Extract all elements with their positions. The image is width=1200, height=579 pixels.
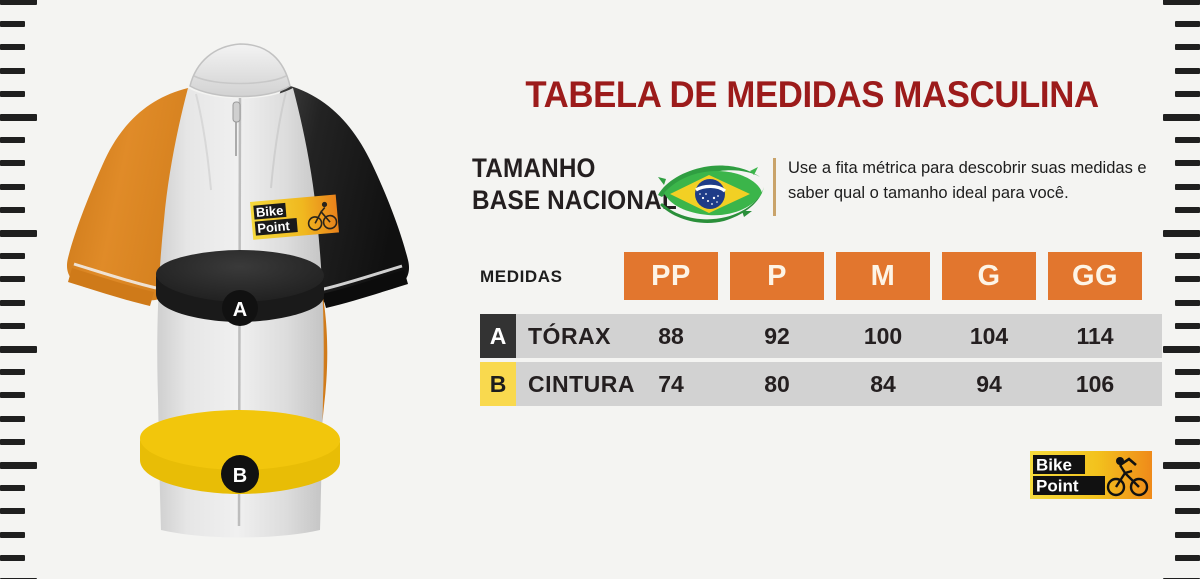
jersey-illustration: Bike Point A B xyxy=(28,6,438,576)
ruler-tick-minor xyxy=(1175,68,1200,74)
ruler-tick-major xyxy=(1163,230,1200,237)
ruler-tick-minor xyxy=(0,160,25,166)
row-badge-a: A xyxy=(480,314,516,358)
brazil-flag-icon xyxy=(650,153,768,227)
size-header-m: M xyxy=(836,252,930,300)
measure-band-b: B xyxy=(140,410,340,494)
measurements-table: MEDIDAS PP P M G GG A TÓRAX 88 92 100 10… xyxy=(472,252,1162,302)
ruler-tick-minor xyxy=(0,207,25,213)
ruler-tick-minor xyxy=(1175,91,1200,97)
ruler-tick-minor xyxy=(0,300,25,306)
row-badge-b: B xyxy=(480,362,516,406)
size-header-p: P xyxy=(730,252,824,300)
size-header-g: G xyxy=(942,252,1036,300)
tamanho-line1: TAMANHO xyxy=(472,153,596,183)
row-label-cintura: CINTURA xyxy=(528,362,635,406)
ruler-tick-major xyxy=(0,114,37,121)
ruler-tick-minor xyxy=(1175,300,1200,306)
vertical-divider xyxy=(773,158,776,216)
row-label-torax: TÓRAX xyxy=(528,314,611,358)
size-chart-page: Bike Point A B xyxy=(0,0,1200,579)
ruler-tick-minor xyxy=(1175,369,1200,375)
ruler-tick-minor xyxy=(1175,323,1200,329)
cintura-m: 84 xyxy=(836,362,930,406)
tamanho-heading: TAMANHO BASE NACIONAL xyxy=(472,152,677,216)
size-header-gg: GG xyxy=(1048,252,1142,300)
band-a-label: A xyxy=(233,299,247,321)
logo-line1: Bike xyxy=(1036,456,1072,475)
ruler-tick-minor xyxy=(1175,137,1200,143)
jersey-svg: Bike Point A B xyxy=(28,6,438,576)
table-row-cintura: B CINTURA 74 80 84 94 106 xyxy=(472,362,1162,406)
ruler-tick-major xyxy=(0,346,37,353)
ruler-tick-minor xyxy=(1175,276,1200,282)
ruler-tick-minor xyxy=(1175,439,1200,445)
torax-m: 100 xyxy=(836,314,930,358)
tamanho-line2: BASE NACIONAL xyxy=(472,185,677,215)
ruler-tick-minor xyxy=(0,323,25,329)
ruler-tick-major xyxy=(0,230,37,237)
ruler-tick-minor xyxy=(0,253,25,259)
svg-text:Bike: Bike xyxy=(255,203,284,220)
bike-point-logo: Bike Point xyxy=(1028,447,1154,503)
ruler-tick-minor xyxy=(1175,532,1200,538)
ruler-tick-minor xyxy=(1175,184,1200,190)
ruler-tick-minor xyxy=(0,555,25,561)
ruler-tick-major xyxy=(1163,114,1200,121)
ruler-right xyxy=(1154,0,1200,579)
cintura-pp: 74 xyxy=(624,362,718,406)
jersey-chest-logo: Bike Point xyxy=(250,195,339,240)
ruler-tick-minor xyxy=(0,532,25,538)
ruler-tick-minor xyxy=(0,392,25,398)
jersey-collar xyxy=(190,44,290,97)
table-row-torax: A TÓRAX 88 92 100 104 114 xyxy=(472,314,1162,358)
cintura-p: 80 xyxy=(730,362,824,406)
ruler-tick-minor xyxy=(0,508,25,514)
cintura-gg: 106 xyxy=(1048,362,1142,406)
ruler-tick-minor xyxy=(0,44,25,50)
ruler-tick-minor xyxy=(1175,392,1200,398)
ruler-tick-major xyxy=(0,0,37,5)
ruler-tick-minor xyxy=(1175,485,1200,491)
torax-gg: 114 xyxy=(1048,314,1142,358)
intro-block: TAMANHO BASE NACIONAL xyxy=(472,150,1162,230)
ruler-left xyxy=(0,0,46,579)
ruler-tick-minor xyxy=(1175,253,1200,259)
ruler-tick-minor xyxy=(0,137,25,143)
ruler-tick-minor xyxy=(0,276,25,282)
ruler-tick-minor xyxy=(0,369,25,375)
logo-line2: Point xyxy=(1036,477,1079,496)
instructions-line1: Use a fita métrica para descobrir suas m… xyxy=(788,159,1147,177)
ruler-tick-minor xyxy=(1175,44,1200,50)
ruler-tick-minor xyxy=(0,485,25,491)
ruler-tick-major xyxy=(1163,346,1200,353)
ruler-tick-major xyxy=(1163,0,1200,5)
ruler-tick-minor xyxy=(1175,160,1200,166)
torax-p: 92 xyxy=(730,314,824,358)
ruler-tick-minor xyxy=(0,68,25,74)
ruler-tick-minor xyxy=(1175,21,1200,27)
ruler-tick-minor xyxy=(0,91,25,97)
instructions-text: Use a fita métrica para descobrir suas m… xyxy=(788,156,1168,206)
ruler-tick-major xyxy=(1163,462,1200,469)
measures-label: MEDIDAS xyxy=(480,267,563,287)
cintura-g: 94 xyxy=(942,362,1036,406)
ruler-tick-minor xyxy=(1175,416,1200,422)
size-header-pp: PP xyxy=(624,252,718,300)
ruler-tick-minor xyxy=(1175,207,1200,213)
ruler-tick-minor xyxy=(0,416,25,422)
ruler-tick-minor xyxy=(1175,555,1200,561)
table-header-row: MEDIDAS PP P M G GG xyxy=(472,252,1162,302)
page-title: TABELA DE MEDIDAS MASCULINA xyxy=(483,74,1141,116)
band-b-label: B xyxy=(233,465,247,487)
ruler-tick-major xyxy=(0,462,37,469)
ruler-tick-minor xyxy=(1175,508,1200,514)
ruler-tick-minor xyxy=(0,21,25,27)
torax-pp: 88 xyxy=(624,314,718,358)
svg-text:Point: Point xyxy=(257,218,291,236)
torax-g: 104 xyxy=(942,314,1036,358)
instructions-line2: saber qual o tamanho ideal para você. xyxy=(788,184,1069,202)
ruler-tick-minor xyxy=(0,184,25,190)
ruler-tick-minor xyxy=(0,439,25,445)
